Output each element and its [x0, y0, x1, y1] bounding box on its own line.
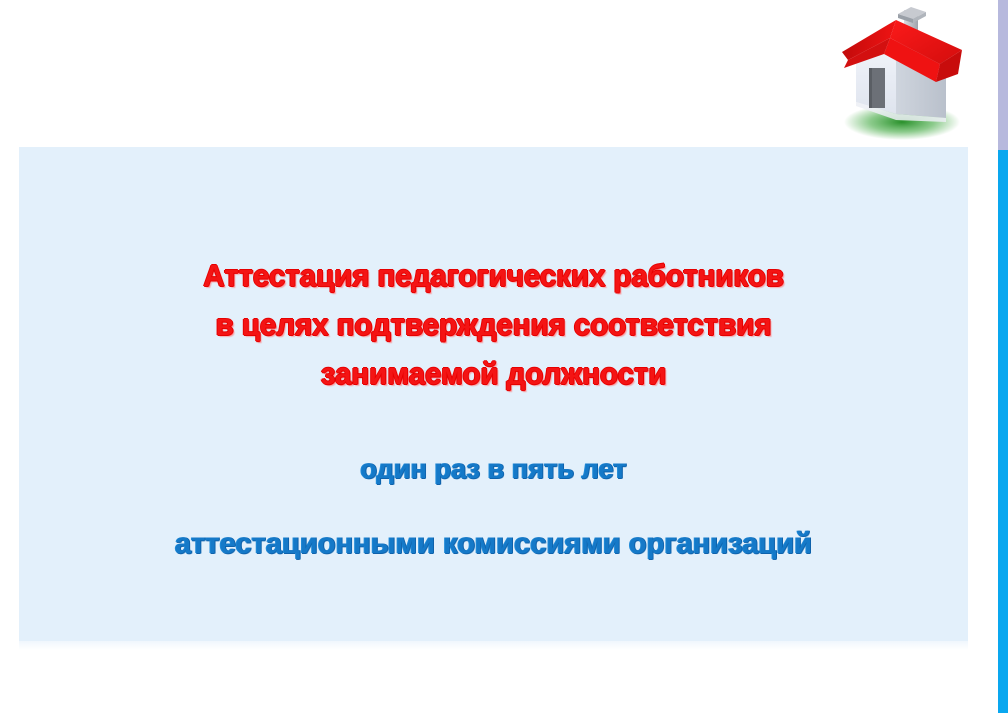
presentation-slide: Аттестация педагогических работников в ц…	[0, 0, 1008, 713]
headline-line-1: Аттестация педагогических работников	[38, 251, 949, 300]
rail-lower-segment	[998, 150, 1008, 713]
authority-block: аттестационными комиссиями организаций	[19, 525, 968, 563]
frequency-block: один раз в пять лет	[19, 450, 968, 488]
headline-line-2: в целях подтверждения соответствия	[38, 300, 949, 349]
frequency-text: один раз в пять лет	[33, 450, 954, 488]
content-panel: Аттестация педагогических работников в ц…	[19, 147, 968, 641]
headline-block: Аттестация педагогических работников в ц…	[19, 251, 968, 398]
rail-upper-segment	[998, 0, 1008, 150]
panel-shadow	[19, 641, 968, 650]
headline-line-3: занимаемой должности	[38, 349, 949, 398]
right-side-rail	[998, 0, 1008, 713]
authority-text: аттестационными комиссиями организаций	[33, 525, 954, 563]
house-icon	[828, 2, 988, 142]
